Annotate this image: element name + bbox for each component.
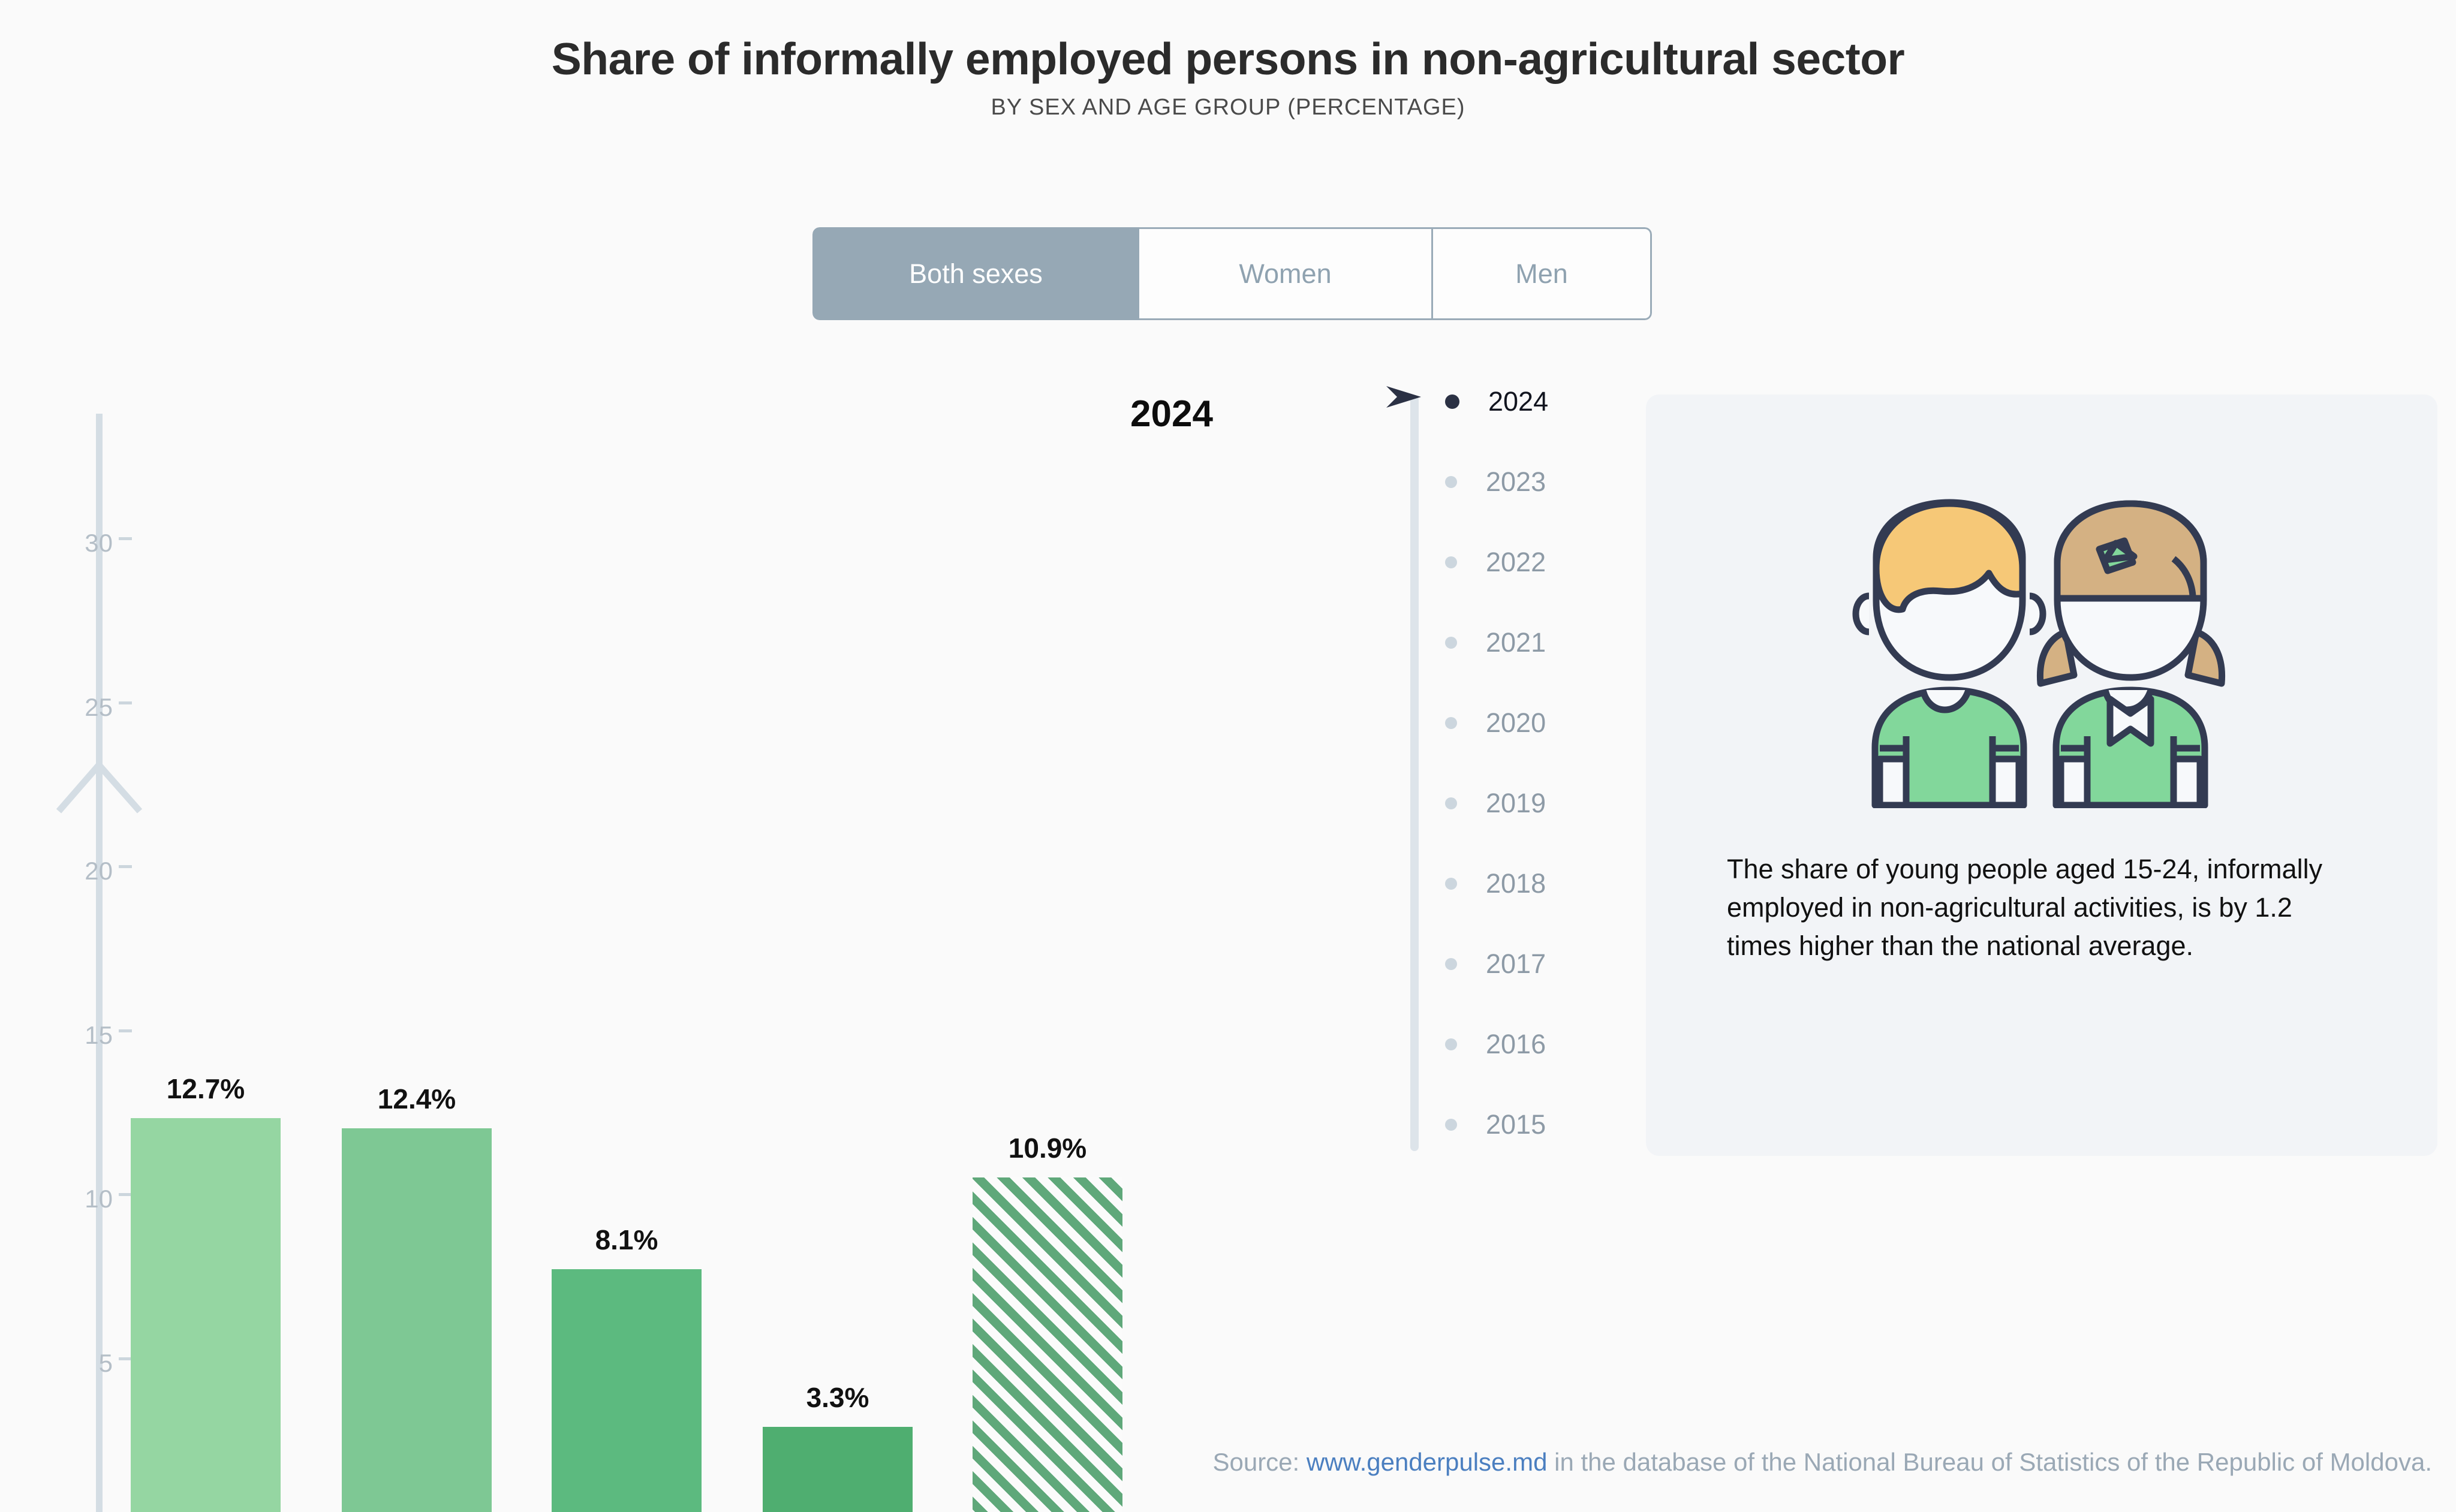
year-option-2023[interactable]: 2023 [1397,464,1649,500]
tab-both-sexes[interactable]: Both sexes [812,227,1139,320]
bar-group-0[interactable]: 12.7% [131,384,281,1512]
year-label: 2015 [1486,1109,1546,1140]
bar-group-2[interactable]: 8.1% [552,384,702,1512]
year-dot [1445,556,1457,568]
sex-tab-group: Both sexes Women Men [812,227,1652,320]
bar-group-1[interactable]: 12.4% [342,384,492,1512]
page-subtitle: BY SEX AND AGE GROUP (PERCENTAGE) [0,95,2456,121]
source-footer: Source: www.genderpulse.md in the databa… [0,1448,2456,1477]
year-dot [1445,476,1457,488]
bar-value-label-4: 10.9% [973,1132,1122,1164]
year-option-2015[interactable]: 2015 [1397,1107,1649,1143]
year-dot [1445,1038,1457,1050]
year-option-2024[interactable]: 2024 [1397,384,1649,420]
page-title: Share of informally employed persons in … [0,33,2456,85]
year-dot [1445,878,1457,890]
source-prefix: Source: [1212,1448,1306,1476]
bar-value-label-3: 3.3% [763,1381,913,1414]
year-label: 2023 [1486,466,1546,498]
year-label: 2020 [1486,707,1546,739]
bar-value-label-1: 12.4% [342,1083,492,1115]
year-option-2017[interactable]: 2017 [1397,946,1649,982]
info-panel-text: The share of young people aged 15-24, in… [1727,850,2326,965]
source-suffix: in the database of the National Bureau o… [1547,1448,2432,1476]
year-dot [1445,637,1457,649]
bar-series: 12.7%12.4%8.1%3.3%10.9% [0,378,1325,1512]
year-dot [1445,958,1457,970]
tab-women[interactable]: Women [1139,227,1433,320]
bar-value-label-2: 8.1% [552,1224,702,1256]
boy-and-girl-illustration [1814,496,2270,808]
bar-value-label-0: 12.7% [131,1073,281,1105]
year-option-2019[interactable]: 2019 [1397,785,1649,821]
year-dot [1445,797,1457,809]
year-label: 2018 [1486,868,1546,899]
tab-men[interactable]: Men [1433,227,1652,320]
year-dot [1445,717,1457,729]
source-link[interactable]: www.genderpulse.md [1307,1448,1548,1476]
year-label: 2021 [1486,627,1546,658]
page-root: Share of informally employed persons in … [0,0,2456,1512]
year-pointer-icon [1384,382,1438,411]
info-panel: The share of young people aged 15-24, in… [1646,394,2437,1156]
bar-group-4[interactable]: 10.9% [973,384,1122,1512]
year-label: 2016 [1486,1029,1546,1060]
year-dot [1445,1119,1457,1131]
year-label: 2022 [1486,547,1546,578]
year-label: 2019 [1486,788,1546,819]
year-option-2018[interactable]: 2018 [1397,866,1649,902]
year-selector: 2024202320222021202020192018201720162015 [1397,384,1649,1157]
year-dot [1445,394,1459,409]
bar-chart: 051015202530 12.7%12.4%8.1%3.3%10.9% [0,378,1325,1157]
year-label: 2017 [1486,948,1546,980]
year-label: 2024 [1488,386,1548,417]
year-option-2021[interactable]: 2021 [1397,625,1649,661]
year-option-2016[interactable]: 2016 [1397,1026,1649,1062]
year-option-2020[interactable]: 2020 [1397,705,1649,741]
year-option-2022[interactable]: 2022 [1397,544,1649,580]
bar-group-3[interactable]: 3.3% [763,384,913,1512]
